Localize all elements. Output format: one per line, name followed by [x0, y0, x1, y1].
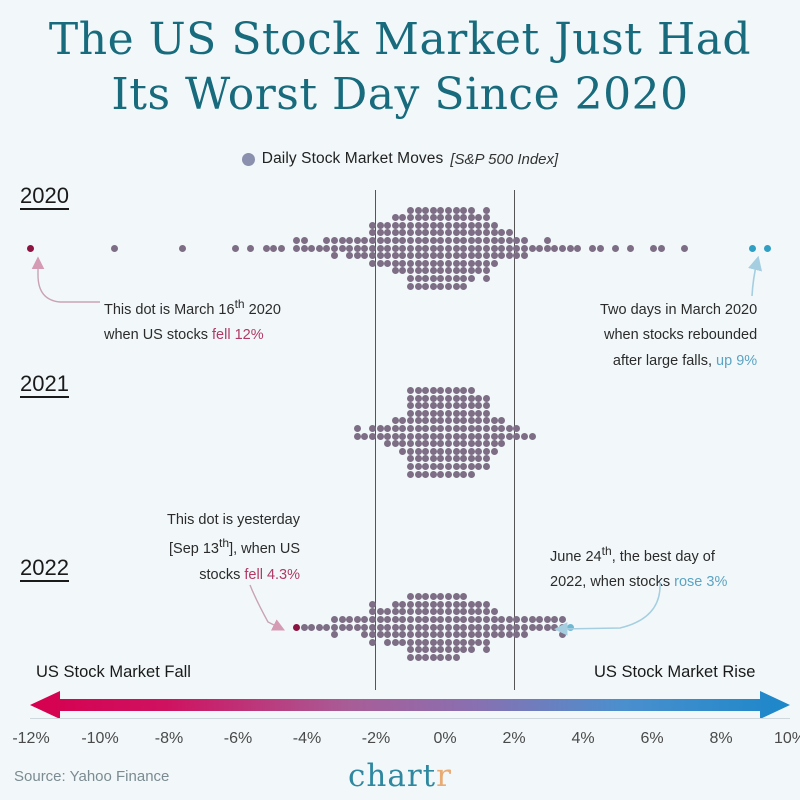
data-dot: [475, 455, 482, 462]
data-dot: [453, 395, 460, 402]
data-dot: [529, 616, 536, 623]
data-dot: [407, 433, 414, 440]
data-dot: [407, 601, 414, 608]
data-dot: [475, 245, 482, 252]
annotation-june24-line1b: , the best day of: [612, 549, 715, 565]
data-dot: [430, 387, 437, 394]
data-dot: [513, 616, 520, 623]
annotation-june-24-2022: June 24th, the best day of 2022, when st…: [550, 541, 727, 596]
data-dot: [399, 433, 406, 440]
data-dot: [422, 260, 429, 267]
data-dot: [437, 417, 444, 424]
data-dot: [491, 433, 498, 440]
data-dot: [415, 608, 422, 615]
data-dot: [437, 260, 444, 267]
data-dot: [453, 283, 460, 290]
data-dot: [415, 214, 422, 221]
data-dot: [445, 448, 452, 455]
data-dot: [422, 214, 429, 221]
data-dot: [460, 260, 467, 267]
axis-tick-minus2pct: -2%: [362, 730, 390, 748]
data-dot: [453, 237, 460, 244]
data-dot: [483, 463, 490, 470]
data-dot: [377, 616, 384, 623]
data-dot: [567, 245, 574, 252]
data-dot: [475, 237, 482, 244]
data-dot: [483, 267, 490, 274]
data-dot: [498, 417, 505, 424]
page-title: The US Stock Market Just Had Its Worst D…: [0, 12, 800, 123]
data-dot: [377, 260, 384, 267]
data-dot: [521, 237, 528, 244]
data-dot: [453, 471, 460, 478]
data-dot: [483, 229, 490, 236]
data-dot: [453, 631, 460, 638]
data-dot: [422, 639, 429, 646]
data-dot: [407, 471, 414, 478]
data-dot: [377, 252, 384, 259]
data-dot: [422, 440, 429, 447]
data-dot: [437, 425, 444, 432]
data-dot: [422, 395, 429, 402]
data-dot: [521, 616, 528, 623]
data-dot: [445, 455, 452, 462]
data-dot: [430, 395, 437, 402]
data-dot: [377, 222, 384, 229]
annotation-yesterday-highlight: fell 4.3%: [244, 567, 300, 583]
data-dot: [308, 624, 315, 631]
data-dot: [453, 402, 460, 409]
data-dot: [430, 222, 437, 229]
annotation-rebound-line1: Two days in March 2020: [600, 298, 757, 323]
data-dot: [460, 207, 467, 214]
data-dot: [468, 455, 475, 462]
data-dot: [399, 229, 406, 236]
data-dot: [551, 616, 558, 623]
data-dot: [415, 433, 422, 440]
data-dot: [407, 402, 414, 409]
data-dot: [263, 245, 270, 252]
data-dot: [384, 616, 391, 623]
data-dot: [369, 433, 376, 440]
data-dot: [468, 245, 475, 252]
data-dot: [460, 252, 467, 259]
data-dot: [331, 245, 338, 252]
data-dot: [361, 433, 368, 440]
data-dot: [293, 624, 300, 631]
data-dot: [354, 245, 361, 252]
data-dot: [491, 440, 498, 447]
data-dot: [430, 608, 437, 615]
data-dot: [422, 267, 429, 274]
data-dot: [430, 433, 437, 440]
data-dot: [369, 237, 376, 244]
data-dot: [346, 616, 353, 623]
data-dot: [407, 425, 414, 432]
data-dot: [475, 601, 482, 608]
data-dot: [453, 455, 460, 462]
data-dot: [437, 402, 444, 409]
data-dot: [567, 624, 574, 631]
data-dot: [422, 455, 429, 462]
data-dot: [437, 593, 444, 600]
data-dot: [764, 245, 771, 252]
annotation-june24-highlight: rose 3%: [674, 574, 727, 590]
title-line-1: The US Stock Market Just Had: [49, 14, 751, 65]
data-dot: [399, 616, 406, 623]
data-dot: [445, 252, 452, 259]
data-dot: [437, 463, 444, 470]
data-dot: [475, 395, 482, 402]
data-dot: [415, 237, 422, 244]
data-dot: [475, 229, 482, 236]
data-dot: [498, 252, 505, 259]
data-dot: [544, 245, 551, 252]
data-dot: [430, 646, 437, 653]
data-dot: [460, 601, 467, 608]
data-dot: [498, 631, 505, 638]
data-dot: [453, 433, 460, 440]
data-dot: [475, 463, 482, 470]
data-dot: [407, 624, 414, 631]
data-dot: [475, 433, 482, 440]
data-dot: [453, 252, 460, 259]
data-dot: [627, 245, 634, 252]
data-dot: [491, 252, 498, 259]
year-label-2020: 2020: [20, 185, 69, 210]
annotation-june24-line2a: 2022, when stocks: [550, 574, 674, 590]
data-dot: [354, 237, 361, 244]
data-dot: [399, 440, 406, 447]
data-dot: [415, 646, 422, 653]
axis-tick-6pct: 6%: [640, 730, 663, 748]
annotation-rebound-line3a: after large falls,: [613, 353, 716, 369]
data-dot: [407, 410, 414, 417]
data-dot: [437, 471, 444, 478]
annotation-march-16-2020: This dot is March 16th 2020 when US stoc…: [104, 294, 281, 349]
data-dot: [361, 624, 368, 631]
data-dot: [293, 237, 300, 244]
data-dot: [475, 417, 482, 424]
data-dot: [430, 471, 437, 478]
data-dot: [483, 616, 490, 623]
data-dot: [422, 387, 429, 394]
data-dot: [506, 425, 513, 432]
data-dot: [384, 639, 391, 646]
data-dot: [498, 616, 505, 623]
data-dot: [445, 601, 452, 608]
data-dot: [430, 455, 437, 462]
data-dot: [559, 616, 566, 623]
data-dot: [407, 654, 414, 661]
data-dot: [437, 283, 444, 290]
data-dot: [407, 283, 414, 290]
data-dot: [422, 207, 429, 214]
data-dot: [453, 624, 460, 631]
data-dot: [468, 601, 475, 608]
data-dot: [498, 425, 505, 432]
data-dot: [392, 440, 399, 447]
data-dot: [453, 229, 460, 236]
data-dot: [369, 639, 376, 646]
data-dot: [483, 646, 490, 653]
data-dot: [460, 624, 467, 631]
data-dot: [483, 252, 490, 259]
data-dot: [407, 593, 414, 600]
data-dot: [491, 425, 498, 432]
data-dot: [331, 631, 338, 638]
data-dot: [498, 624, 505, 631]
data-dot: [468, 433, 475, 440]
data-dot: [384, 237, 391, 244]
data-dot: [331, 237, 338, 244]
data-dot: [369, 222, 376, 229]
data-dot: [377, 624, 384, 631]
data-dot: [437, 275, 444, 282]
data-dot: [377, 229, 384, 236]
data-dot: [453, 222, 460, 229]
data-dot: [491, 608, 498, 615]
data-dot: [498, 229, 505, 236]
data-dot: [392, 267, 399, 274]
data-dot: [384, 245, 391, 252]
data-dot: [399, 252, 406, 259]
data-dot: [392, 639, 399, 646]
data-dot: [415, 402, 422, 409]
data-dot: [392, 624, 399, 631]
data-dot: [453, 440, 460, 447]
data-dot: [445, 471, 452, 478]
data-dot: [415, 463, 422, 470]
data-dot: [491, 229, 498, 236]
data-dot: [453, 601, 460, 608]
data-dot: [460, 395, 467, 402]
axis-tick-minus4pct: -4%: [293, 730, 321, 748]
data-dot: [361, 245, 368, 252]
data-dot: [681, 245, 688, 252]
data-dot: [422, 229, 429, 236]
data-dot: [361, 631, 368, 638]
data-dot: [430, 417, 437, 424]
data-dot: [437, 440, 444, 447]
year-label-2021: 2021: [20, 373, 69, 398]
data-dot: [354, 252, 361, 259]
data-dot: [384, 624, 391, 631]
data-dot: [384, 425, 391, 432]
annotation-yesterday-line3a: stocks: [199, 567, 244, 583]
data-dot: [483, 402, 490, 409]
data-dot: [323, 245, 330, 252]
data-dot: [369, 229, 376, 236]
data-dot: [475, 624, 482, 631]
data-dot: [445, 417, 452, 424]
data-dot: [445, 214, 452, 221]
data-dot: [437, 448, 444, 455]
brand-part-r: r: [436, 758, 452, 794]
data-dot: [506, 252, 513, 259]
data-dot: [483, 245, 490, 252]
data-dot: [453, 417, 460, 424]
data-dot: [483, 275, 490, 282]
data-dot: [445, 631, 452, 638]
data-dot: [430, 425, 437, 432]
data-dot: [506, 229, 513, 236]
data-dot: [407, 267, 414, 274]
data-dot: [453, 425, 460, 432]
axis-baseline: [30, 718, 790, 719]
data-dot: [468, 639, 475, 646]
data-dot: [491, 245, 498, 252]
data-dot: [430, 654, 437, 661]
data-dot: [354, 616, 361, 623]
data-dot: [399, 631, 406, 638]
data-dot: [498, 440, 505, 447]
data-dot: [475, 639, 482, 646]
data-dot: [536, 616, 543, 623]
data-dot: [445, 260, 452, 267]
data-dot: [468, 463, 475, 470]
data-dot: [453, 463, 460, 470]
data-dot: [445, 646, 452, 653]
data-dot: [475, 631, 482, 638]
data-dot: [392, 252, 399, 259]
data-dot: [407, 631, 414, 638]
data-dot: [399, 237, 406, 244]
data-dot: [460, 448, 467, 455]
data-dot: [468, 260, 475, 267]
data-dot: [445, 387, 452, 394]
data-dot: [445, 283, 452, 290]
data-dot: [422, 222, 429, 229]
data-dot: [422, 471, 429, 478]
data-dot: [415, 252, 422, 259]
data-dot: [475, 267, 482, 274]
data-dot: [407, 237, 414, 244]
data-dot: [491, 222, 498, 229]
data-dot: [475, 608, 482, 615]
data-dot: [430, 624, 437, 631]
data-dot: [430, 283, 437, 290]
axis-tick-2pct: 2%: [502, 730, 525, 748]
data-dot: [437, 608, 444, 615]
data-dot: [460, 275, 467, 282]
data-dot: [415, 455, 422, 462]
data-dot: [445, 207, 452, 214]
data-dot: [491, 237, 498, 244]
data-dot: [445, 410, 452, 417]
data-dot: [437, 631, 444, 638]
data-dot: [460, 245, 467, 252]
data-dot: [453, 387, 460, 394]
data-dot: [445, 440, 452, 447]
annotation-yesterday-line1: This dot is yesterday: [155, 508, 300, 533]
data-dot: [270, 245, 277, 252]
data-dot: [574, 245, 581, 252]
data-dot: [407, 214, 414, 221]
brand-part-chart: chart: [348, 758, 436, 794]
data-dot: [445, 463, 452, 470]
annotation-sep-13-2022: This dot is yesterday [Sep 13th], when U…: [155, 508, 300, 588]
data-dot: [468, 624, 475, 631]
data-dot: [392, 229, 399, 236]
data-dot: [316, 245, 323, 252]
data-dot: [453, 616, 460, 623]
data-dot: [430, 631, 437, 638]
data-dot: [453, 260, 460, 267]
data-dot: [339, 616, 346, 623]
data-dot: [475, 402, 482, 409]
data-dot: [513, 433, 520, 440]
data-dot: [460, 471, 467, 478]
data-dot: [460, 455, 467, 462]
data-dot: [415, 616, 422, 623]
data-dot: [430, 214, 437, 221]
data-dot: [536, 624, 543, 631]
data-dot: [369, 260, 376, 267]
data-dot: [430, 229, 437, 236]
axis-tick-minus12pct: -12%: [12, 730, 49, 748]
data-dot: [415, 283, 422, 290]
data-dot: [407, 387, 414, 394]
data-dot: [453, 448, 460, 455]
annotation-yesterday-line2b: ], when US: [229, 541, 300, 557]
data-dot: [361, 237, 368, 244]
data-dot: [407, 608, 414, 615]
year-label-2022: 2022: [20, 557, 69, 582]
data-dot: [422, 608, 429, 615]
data-dot: [445, 395, 452, 402]
data-dot: [415, 387, 422, 394]
data-dot: [422, 410, 429, 417]
data-dot: [483, 214, 490, 221]
data-dot: [437, 654, 444, 661]
data-dot: [506, 237, 513, 244]
data-dot: [453, 207, 460, 214]
data-dot: [513, 425, 520, 432]
annotation-yesterday-line2: [Sep 13: [169, 541, 219, 557]
data-dot: [384, 631, 391, 638]
data-dot: [506, 624, 513, 631]
data-dot: [468, 237, 475, 244]
data-dot: [384, 608, 391, 615]
annotation-rebound-line2: when stocks rebounded: [600, 323, 757, 348]
data-dot: [407, 646, 414, 653]
data-dot: [475, 440, 482, 447]
data-dot: [460, 433, 467, 440]
annotation-june24-line1a: June 24: [550, 549, 602, 565]
data-dot: [384, 252, 391, 259]
data-dot: [399, 608, 406, 615]
data-dot: [422, 448, 429, 455]
data-dot: [415, 229, 422, 236]
data-dot: [399, 624, 406, 631]
data-dot: [339, 237, 346, 244]
data-dot: [308, 245, 315, 252]
annotation-rebound-highlight: up 9%: [716, 353, 757, 369]
legend-label: Daily Stock Market Moves: [262, 150, 444, 168]
data-dot: [369, 624, 376, 631]
data-dot: [422, 252, 429, 259]
data-dot: [377, 425, 384, 432]
data-dot: [445, 222, 452, 229]
data-dot: [422, 237, 429, 244]
data-dot: [475, 425, 482, 432]
data-dot: [468, 207, 475, 214]
data-dot: [392, 425, 399, 432]
data-dot: [498, 245, 505, 252]
data-dot: [415, 639, 422, 646]
data-dot: [422, 463, 429, 470]
